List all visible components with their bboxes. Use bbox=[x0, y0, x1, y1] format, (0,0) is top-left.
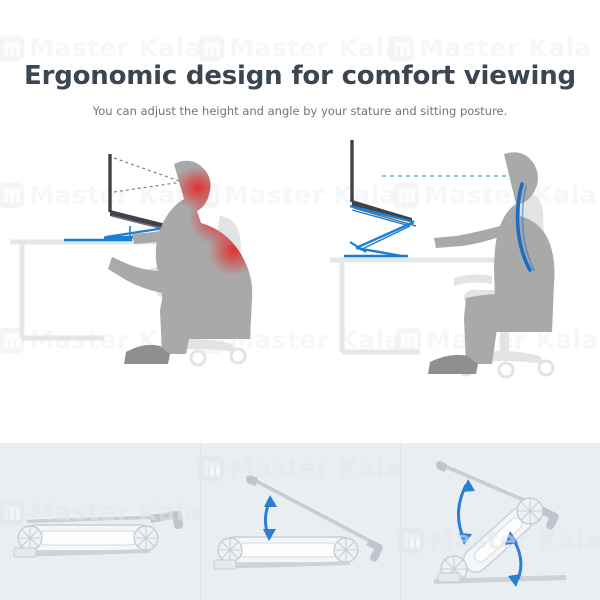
page-subtitle: You can adjust the height and angle by y… bbox=[0, 104, 600, 118]
laptop-stand bbox=[344, 206, 414, 256]
arrow-head-up bbox=[264, 495, 277, 507]
page-title: Ergonomic design for comfort viewing bbox=[0, 62, 600, 91]
stand-fully-extended-panel bbox=[400, 443, 600, 600]
bad-posture-illustration bbox=[6, 130, 296, 420]
stand-partially-raised-art bbox=[214, 475, 383, 569]
stand-folded-art bbox=[14, 511, 183, 557]
header: Ergonomic design for comfort viewing You… bbox=[0, 0, 600, 118]
illustration-band bbox=[0, 130, 600, 425]
good-posture-illustration bbox=[316, 130, 600, 420]
stand-fully-extended-art bbox=[434, 461, 566, 587]
stand-folded-flat-panel bbox=[0, 443, 200, 600]
sight-lines bbox=[114, 158, 182, 192]
product-panel-band bbox=[0, 443, 600, 600]
curved-arrow-upper bbox=[458, 485, 466, 539]
stand-partially-raised-panel bbox=[200, 443, 400, 600]
arrow-head-up bbox=[462, 479, 475, 492]
person-figure bbox=[428, 152, 555, 374]
product-feature-image: Ergonomic design for comfort viewing You… bbox=[0, 0, 600, 600]
arrow-head-down bbox=[459, 533, 472, 545]
